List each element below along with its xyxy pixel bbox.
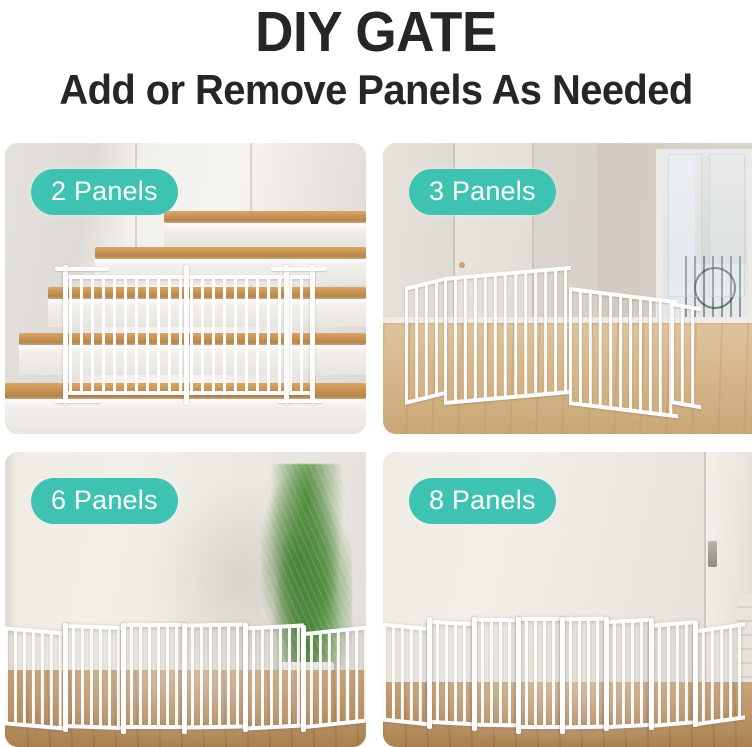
- badge-6-panels: 6 Panels: [31, 478, 178, 524]
- gate-post-middle: [184, 265, 189, 405]
- pen-joint: [693, 621, 698, 728]
- pen-panel: [516, 617, 564, 729]
- pen-panel: [472, 618, 520, 728]
- gate-panel-left-wing: [405, 277, 447, 405]
- pen-panel: [649, 620, 697, 728]
- photo-stairs-gate: 2 Panels: [5, 143, 366, 434]
- pen-joint: [427, 617, 432, 729]
- gate-post-end: [310, 265, 315, 405]
- photo-card-3-panels[interactable]: 3 Panels: [383, 143, 752, 434]
- window-pane: [668, 154, 702, 297]
- pen-joint: [182, 623, 187, 734]
- pen-panel: [604, 618, 652, 730]
- pen-joint: [516, 617, 521, 733]
- gate-bars: [69, 277, 309, 393]
- pen-panel: [560, 617, 608, 729]
- photo-corner-gate: 3 Panels: [383, 143, 752, 434]
- pen-panel: [383, 623, 431, 727]
- page-title: DIY GATE: [26, 2, 725, 62]
- photo-grid: 2 Panels: [0, 138, 752, 747]
- photo-card-6-panels[interactable]: 6 Panels: [5, 452, 366, 747]
- pen-joint: [604, 617, 609, 731]
- stair-light: [95, 259, 366, 265]
- gate-mount-arm: [55, 399, 101, 403]
- gate-mount-arm: [55, 267, 109, 271]
- pen-joint: [243, 623, 248, 732]
- photo-card-8-panels[interactable]: 8 Panels: [383, 452, 752, 747]
- badge-8-panels: 8 Panels: [409, 478, 556, 524]
- infographic-page: DIY GATE Add or Remove Panels As Needed: [0, 0, 752, 747]
- badge-3-panels: 3 Panels: [409, 169, 556, 215]
- gate-panel-right-wing: [671, 302, 701, 410]
- badge-2-panels: 2 Panels: [31, 169, 178, 215]
- photo-playpen-8: 8 Panels: [383, 452, 752, 747]
- header: DIY GATE Add or Remove Panels As Needed: [0, 0, 752, 132]
- gate-mount-arm: [271, 267, 327, 271]
- pen-joint: [121, 623, 126, 734]
- stair-light: [164, 223, 366, 229]
- gate-post-right: [284, 265, 289, 405]
- pen-panel: [63, 624, 124, 730]
- window-pane: [709, 154, 745, 297]
- pen-joint: [472, 617, 477, 731]
- pen-panel: [121, 623, 186, 729]
- gate-2-panel: [63, 271, 315, 399]
- gate-3-panel: [405, 277, 708, 405]
- page-subtitle: Add or Remove Panels As Needed: [19, 66, 733, 114]
- pen-joint: [63, 623, 68, 732]
- stair-tread: [95, 247, 366, 259]
- pen-joint: [649, 618, 654, 730]
- door-knob: [459, 262, 465, 268]
- playpen-6-panel: [5, 623, 366, 741]
- playpen-8-panel: [383, 617, 752, 741]
- pen-panel: [5, 626, 66, 730]
- photo-card-2-panels[interactable]: 2 Panels: [5, 143, 366, 434]
- pen-panel: [693, 623, 745, 727]
- stair-tread: [164, 211, 366, 223]
- gate-panel-center-a: [444, 266, 571, 405]
- pen-panel: [427, 620, 475, 727]
- gate-panel-center-b: [569, 287, 678, 418]
- door-handle: [708, 541, 717, 567]
- photo-playpen-6: 6 Panels: [5, 452, 366, 747]
- pen-panel: [243, 623, 304, 730]
- gate-mount-arm: [277, 399, 323, 403]
- pen-joint: [560, 617, 565, 733]
- pen-joint: [301, 625, 306, 731]
- gate-post-left: [63, 265, 68, 405]
- pen-panel: [301, 626, 366, 730]
- pen-panel: [182, 623, 247, 730]
